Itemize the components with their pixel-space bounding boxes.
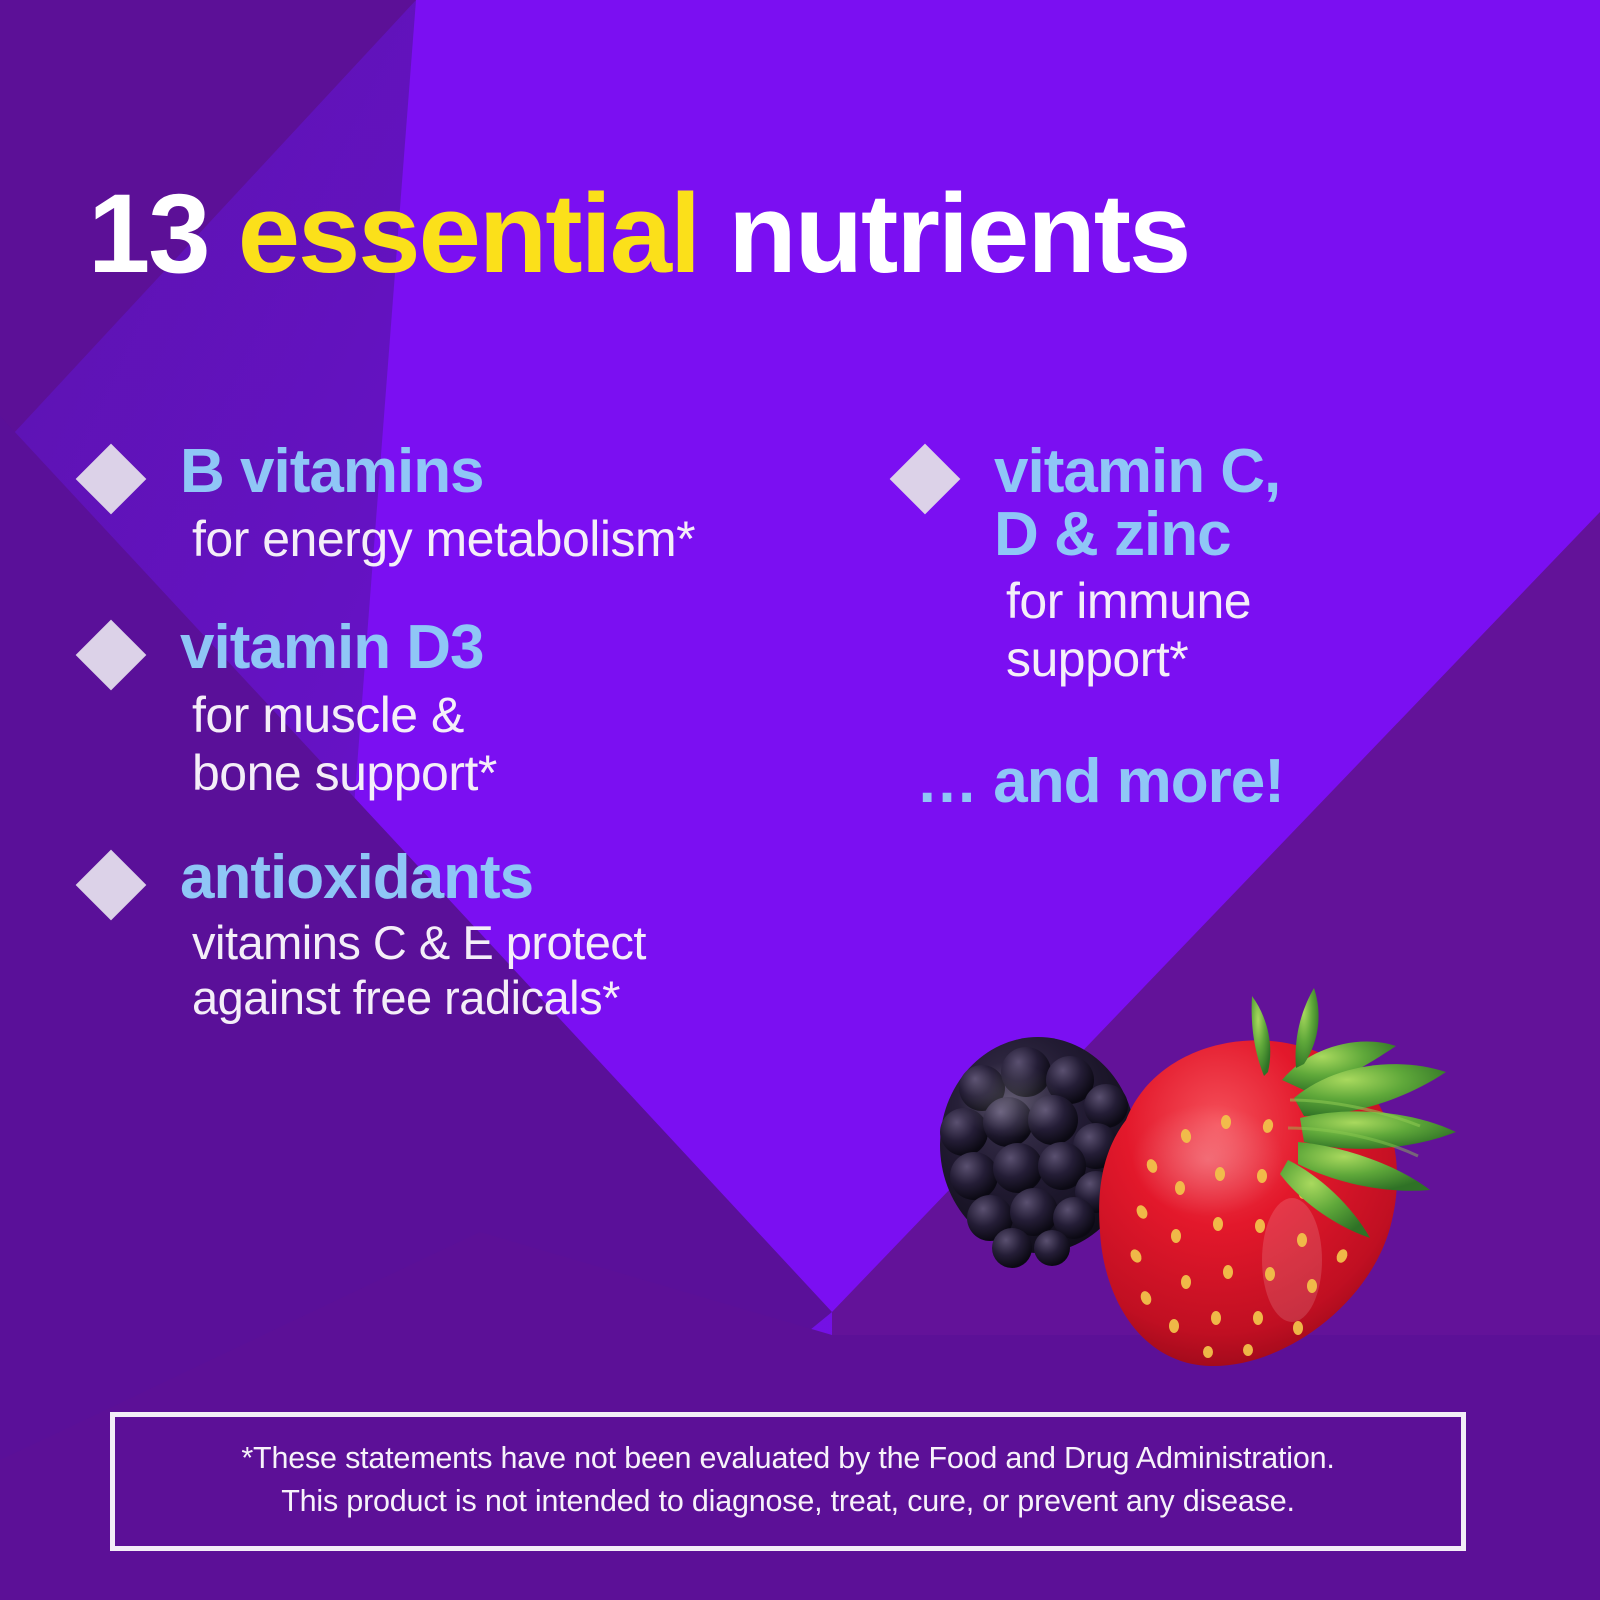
page-title: 13 essential nutrients xyxy=(88,178,1189,290)
fruit-illustration xyxy=(890,960,1490,1380)
diamond-bullet-icon xyxy=(890,444,961,515)
benefit-subtitle: vitamins C & E protect against free radi… xyxy=(192,916,886,1025)
diamond-bullet-icon xyxy=(76,850,147,921)
benefit-item-antioxidants: antioxidants vitamins C & E protect agai… xyxy=(86,846,886,1025)
benefit-title: B vitamins xyxy=(180,440,484,503)
headline-count: 13 xyxy=(88,171,238,296)
benefit-title: antioxidants xyxy=(180,846,533,909)
and-more-label: … and more! xyxy=(916,746,1520,817)
benefit-subtitle: for energy metabolism* xyxy=(192,510,886,568)
benefit-title: vitamin C, D & zinc xyxy=(994,440,1280,566)
benefit-title: vitamin D3 xyxy=(180,616,484,679)
benefit-item-b-vitamins: B vitamins for energy metabolism* xyxy=(86,440,886,568)
headline-tail: nutrients xyxy=(699,171,1189,296)
promo-graphic: 13 essential nutrients B vitamins for en… xyxy=(0,0,1600,1600)
benefits-column-right: vitamin C, D & zinc for immune support* … xyxy=(900,440,1520,817)
disclaimer-line-1: *These statements have not been evaluate… xyxy=(125,1437,1451,1480)
strawberry-blackberry-photo xyxy=(890,960,1490,1380)
benefit-item-vitamin-d3: vitamin D3 for muscle & bone support* xyxy=(86,616,886,802)
benefit-subtitle: for muscle & bone support* xyxy=(192,686,886,802)
headline-accent-word: essential xyxy=(238,171,699,296)
benefits-column-left: B vitamins for energy metabolism* vitami… xyxy=(86,440,886,1033)
benefit-item-vitamin-c-d-zinc: vitamin C, D & zinc for immune support* xyxy=(900,440,1520,688)
strawberry-icon xyxy=(1099,988,1456,1366)
disclaimer-line-2: This product is not intended to diagnose… xyxy=(125,1480,1451,1523)
disclaimer-box: *These statements have not been evaluate… xyxy=(110,1412,1466,1551)
diamond-bullet-icon xyxy=(76,444,147,515)
diamond-bullet-icon xyxy=(76,620,147,691)
benefit-subtitle: for immune support* xyxy=(1006,572,1520,688)
